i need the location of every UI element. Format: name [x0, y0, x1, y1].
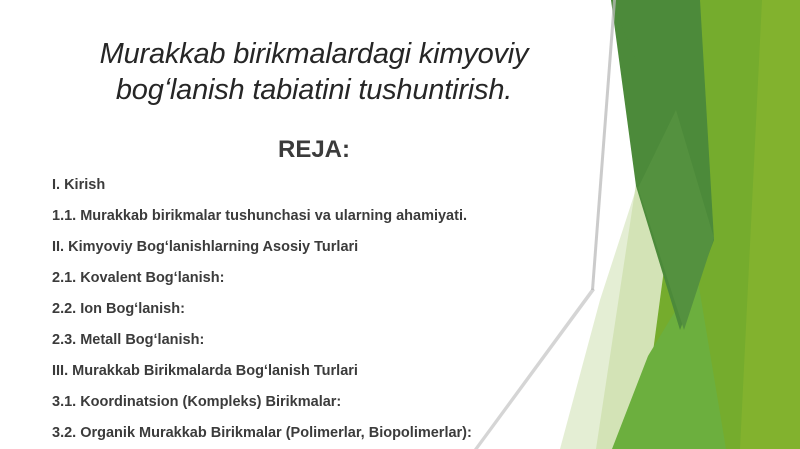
outline-list: I. Kirish 1.1. Murakkab birikmalar tushu… — [52, 170, 612, 449]
outline-heading: REJA: — [44, 135, 584, 165]
list-item: III. Murakkab Birikmalarda Bogʻlanish Tu… — [52, 356, 612, 387]
page-title: Murakkab birikmalardagi kimyoviy bogʻlan… — [44, 36, 584, 108]
presentation-slide: Murakkab birikmalardagi kimyoviy bogʻlan… — [0, 0, 800, 449]
list-item: 2.2. Ion Bogʻlanish: — [52, 294, 612, 325]
list-item: 2.1. Kovalent Bogʻlanish: — [52, 263, 612, 294]
list-item: 3.2. Organik Murakkab Birikmalar (Polime… — [52, 418, 612, 449]
list-item: I. Kirish — [52, 170, 612, 201]
list-item: 3.1. Koordinatsion (Kompleks) Birikmalar… — [52, 387, 612, 418]
list-item: 1.1. Murakkab birikmalar tushunchasi va … — [52, 201, 612, 232]
list-item: II. Kimyoviy Bogʻlanishlarning Asosiy Tu… — [52, 232, 612, 263]
list-item: 2.3. Metall Bogʻlanish: — [52, 325, 612, 356]
slide-content: Murakkab birikmalardagi kimyoviy bogʻlan… — [0, 0, 800, 449]
